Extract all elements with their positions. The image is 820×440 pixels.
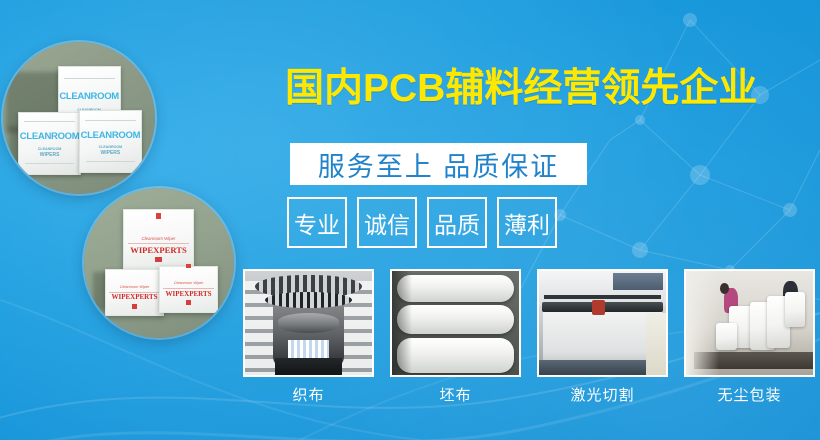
process-thumbnail-weaving[interactable]: 织布 bbox=[243, 269, 374, 405]
process-thumbnail-list: 织布 坯布 bbox=[243, 269, 815, 405]
thumbnail-caption-packing: 无尘包装 bbox=[717, 384, 781, 405]
banner-headline: 国内PCB辅料经营领先企业 bbox=[285, 69, 785, 108]
thumbnail-caption-weaving: 织布 bbox=[292, 384, 324, 405]
feature-tag-pinzhi[interactable]: 品质 bbox=[427, 197, 487, 248]
feature-tag-baoli[interactable]: 薄利 bbox=[497, 197, 557, 248]
cleanroom-sub1-left: CLEANROOM bbox=[19, 147, 80, 151]
thumbnail-caption-greige: 坯布 bbox=[439, 384, 471, 405]
banner-subtitle-text: 服务至上 品质保证 bbox=[318, 145, 560, 184]
thumbnail-image-packing[interactable] bbox=[684, 269, 815, 377]
wipexperts-box-top: Cleanroom Wiper WIPEXPERTS bbox=[123, 209, 194, 271]
wipexperts-brand-top: WIPEXPERTS bbox=[124, 245, 193, 255]
cleanroom-brand-right: CLEANROOM bbox=[80, 130, 141, 141]
feature-tag-zhuanye[interactable]: 专业 bbox=[287, 197, 347, 248]
wipexperts-script-left: Cleanroom Wiper bbox=[106, 285, 163, 289]
cleanroom-sub2-left: WIPERS bbox=[19, 152, 80, 158]
promotional-banner: CLEANROOM CLEANROOM WIPERS CLEANROOM CLE… bbox=[0, 0, 820, 440]
process-thumbnail-greige[interactable]: 坯布 bbox=[390, 269, 521, 405]
cleanroom-pack-right: CLEANROOM CLEANROOM WIPERS bbox=[79, 110, 142, 173]
product-photo-wipexperts: Cleanroom Wiper WIPEXPERTS Cleanroom Wip… bbox=[84, 188, 234, 338]
thumbnail-image-laser[interactable] bbox=[537, 269, 668, 377]
product-photo-cleanroom: CLEANROOM CLEANROOM WIPERS CLEANROOM CLE… bbox=[3, 42, 155, 194]
wipexperts-box-right: Cleanroom Wiper WIPEXPERTS bbox=[159, 266, 218, 313]
feature-tag-list: 专业 诚信 品质 薄利 bbox=[287, 197, 557, 248]
cleanroom-brand-left: CLEANROOM bbox=[19, 131, 80, 142]
thumbnail-image-weaving[interactable] bbox=[243, 269, 374, 377]
process-thumbnail-laser[interactable]: 激光切割 bbox=[537, 269, 668, 405]
thumbnail-image-greige[interactable] bbox=[390, 269, 521, 377]
feature-tag-chengxin[interactable]: 诚信 bbox=[357, 197, 417, 248]
wipexperts-script-right: Cleanroom Wiper bbox=[160, 281, 217, 285]
wipexperts-brand-left: WIPEXPERTS bbox=[106, 293, 163, 301]
wipexperts-script-top: Cleanroom Wiper bbox=[124, 236, 193, 241]
cleanroom-brand-top: CLEANROOM bbox=[59, 91, 120, 102]
wipexperts-brand-right: WIPEXPERTS bbox=[160, 290, 217, 298]
banner-subtitle-bar: 服务至上 品质保证 bbox=[290, 143, 587, 185]
cleanroom-sub2-right: WIPERS bbox=[80, 150, 141, 156]
cleanroom-sub1-right: CLEANROOM bbox=[80, 145, 141, 149]
process-thumbnail-packing[interactable]: 无尘包装 bbox=[684, 269, 815, 405]
thumbnail-caption-laser: 激光切割 bbox=[570, 384, 634, 405]
cleanroom-pack-left: CLEANROOM CLEANROOM WIPERS bbox=[18, 112, 81, 175]
wipexperts-box-left: Cleanroom Wiper WIPEXPERTS bbox=[105, 269, 164, 316]
